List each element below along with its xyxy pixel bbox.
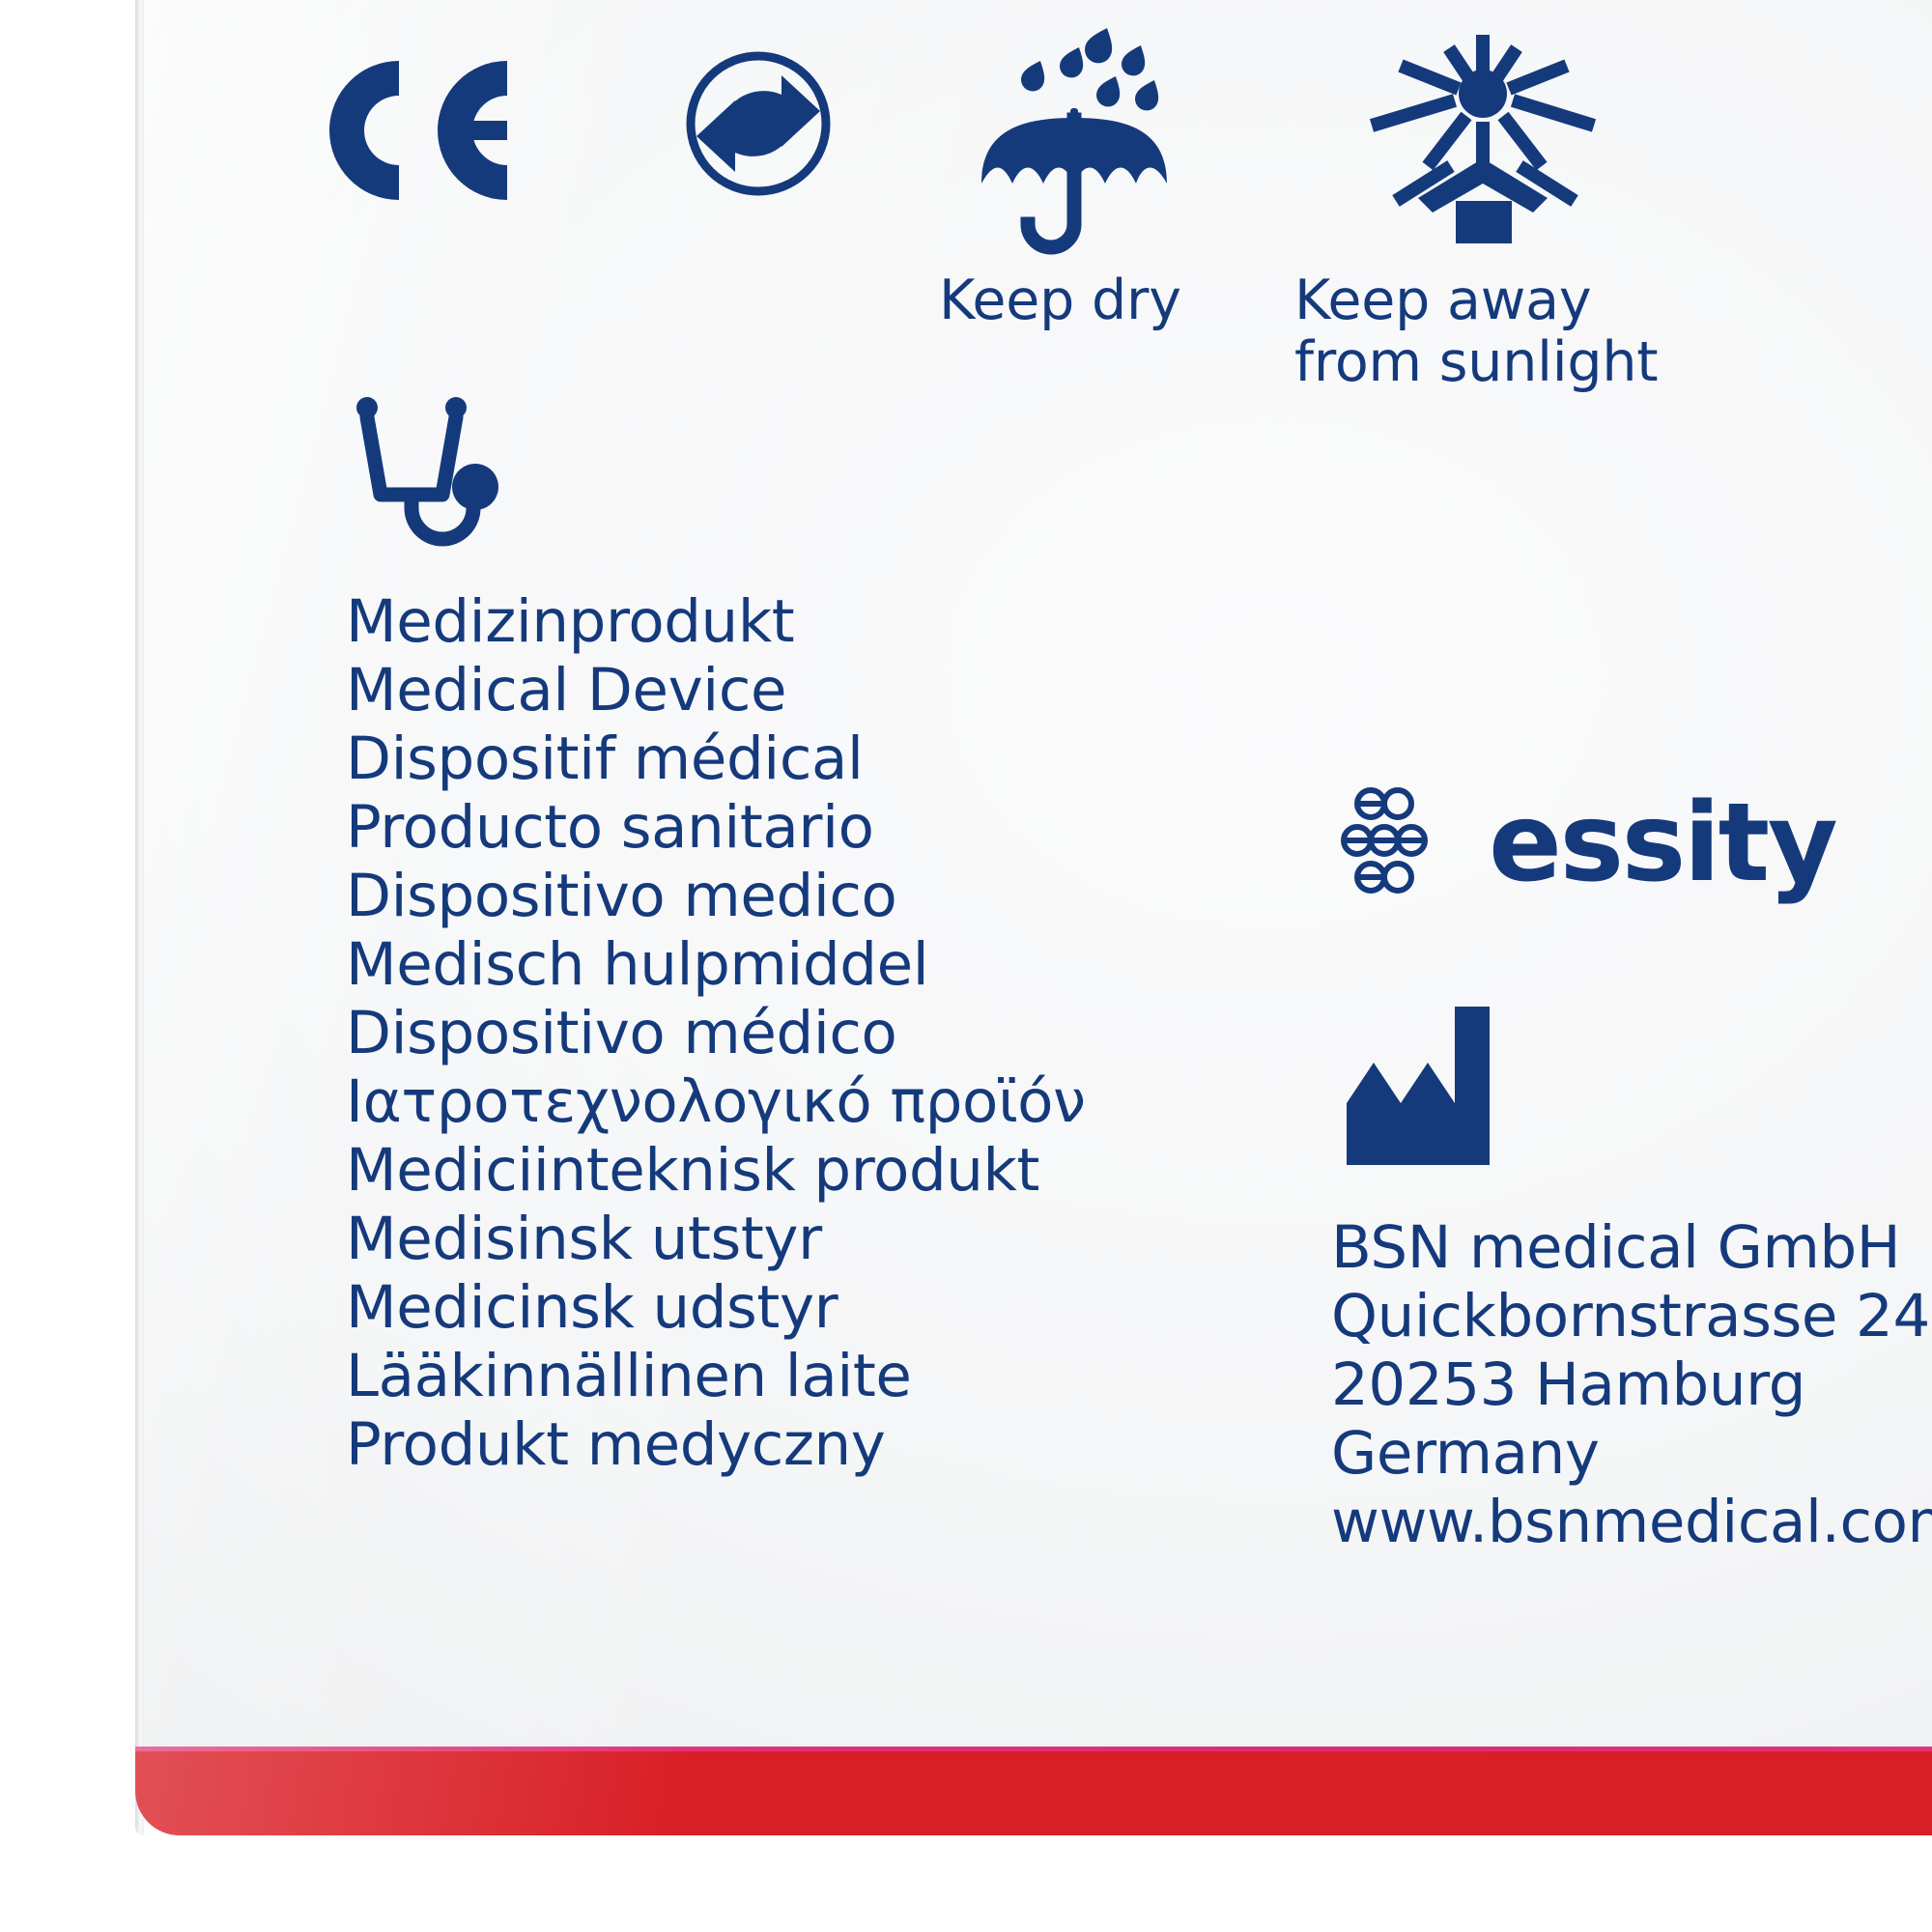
list-item: Dispositivo medico <box>346 862 1215 930</box>
manufacturer-address: BSN medical GmbH Quickbornstrasse 24 202… <box>1331 1213 1932 1556</box>
list-item: Medizinprodukt <box>346 587 1215 656</box>
keep-dry-caption: Keep dry <box>939 270 1181 332</box>
keep-dry-icon <box>966 19 1188 265</box>
list-item: Lääkinnällinen laite <box>346 1342 1215 1410</box>
keep-away-from-sunlight-icon <box>1362 12 1613 247</box>
manufacturer-country: Germany <box>1331 1419 1932 1488</box>
stethoscope-icon <box>350 394 543 562</box>
symbol-row: Keep dry Keep away from sunlight <box>135 0 1932 290</box>
essity-logo: essity <box>1336 784 1835 902</box>
list-item: Mediciinteknisk produkt <box>346 1136 1215 1205</box>
list-item: Dispositivo médico <box>346 999 1215 1067</box>
essity-flower-mark-icon <box>1336 784 1452 902</box>
packaging-photo: Keep dry Keep away from sunlight Medizin… <box>0 0 1932 1932</box>
manufacturer-street: Quickbornstrasse 24 <box>1331 1282 1932 1350</box>
list-item: Produkt medyczny <box>346 1410 1215 1479</box>
ce-mark-icon <box>324 53 565 212</box>
manufacturer-website: www.bsnmedical.com <box>1331 1488 1932 1556</box>
carton-left-edge <box>135 0 144 1835</box>
keep-away-from-sunlight-caption: Keep away from sunlight <box>1294 270 1658 394</box>
medical-device-language-list: Medizinprodukt Medical Device Dispositif… <box>346 587 1215 1479</box>
green-dot-recycling-icon <box>681 46 836 205</box>
essity-wordmark: essity <box>1489 789 1835 897</box>
list-item: Ιατροτεχνολογικό προϊόν <box>346 1067 1215 1136</box>
list-item: Medisinsk utstyr <box>346 1205 1215 1273</box>
list-item: Producto sanitario <box>346 793 1215 862</box>
list-item: Medical Device <box>346 656 1215 724</box>
list-item: Medicinsk udstyr <box>346 1273 1215 1342</box>
carton-panel: Keep dry Keep away from sunlight Medizin… <box>135 0 1932 1835</box>
manufacturer-factory-icon <box>1341 997 1495 1175</box>
manufacturer-company: BSN medical GmbH <box>1331 1213 1932 1282</box>
manufacturer-city: 20253 Hamburg <box>1331 1350 1932 1419</box>
list-item: Medisch hulpmiddel <box>346 930 1215 999</box>
list-item: Dispositif médical <box>346 724 1215 793</box>
red-band <box>135 1747 1932 1835</box>
